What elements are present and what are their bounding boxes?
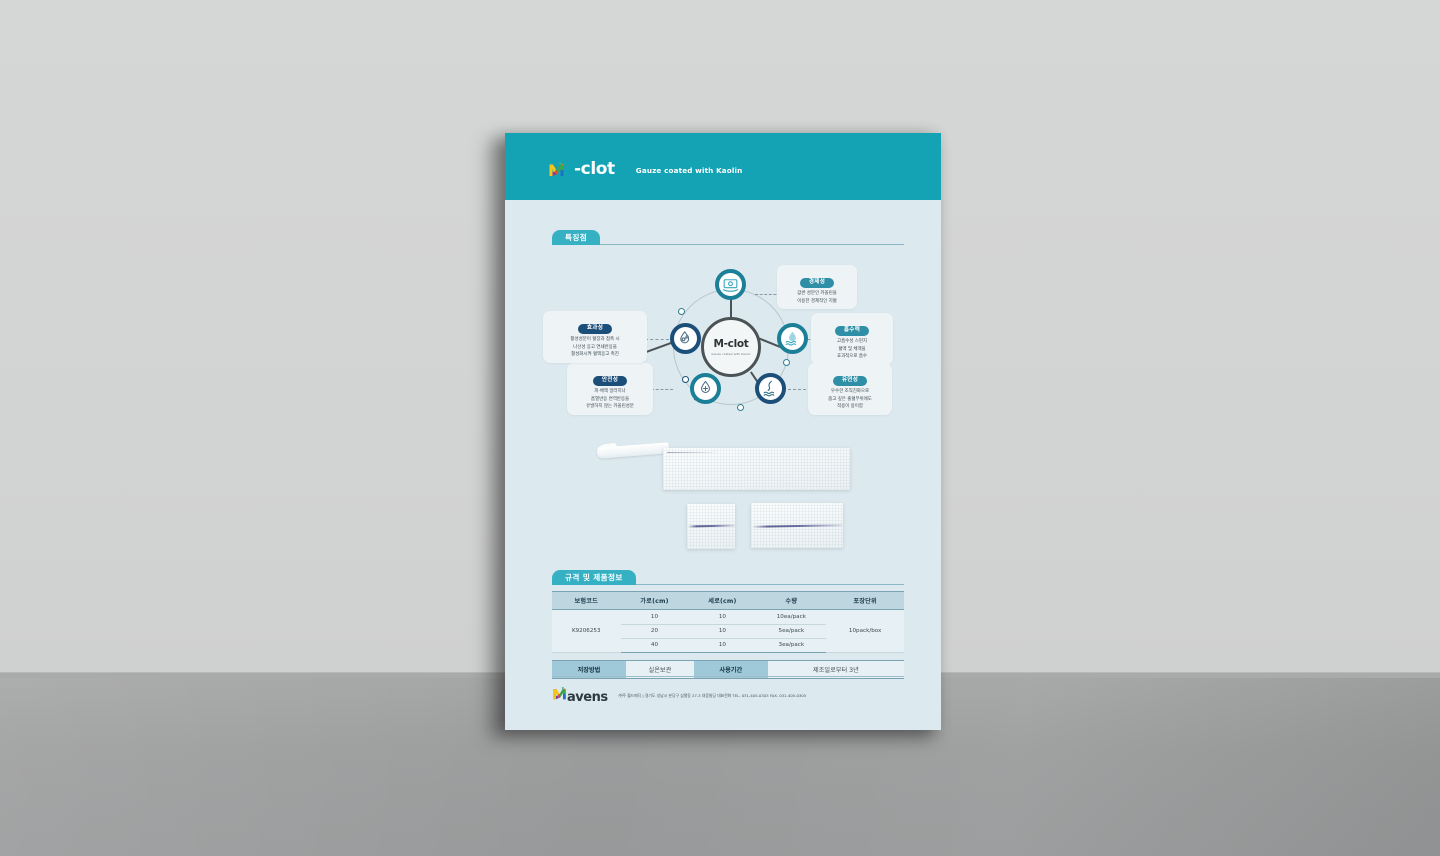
mavens-m-logo-icon <box>548 161 565 178</box>
brand-tagline: Gauze coated with Kaolin <box>636 166 743 175</box>
section-divider <box>636 584 904 585</box>
ring-dot-right <box>783 359 790 366</box>
diagram-node-effectiveness[interactable] <box>670 323 701 354</box>
section-tab-label: 특징점 <box>552 230 600 245</box>
footer-logo-word: avens <box>567 690 608 705</box>
diagram-node-absorbency[interactable] <box>777 323 808 354</box>
cell-width: 10 <box>621 610 689 624</box>
gauze-long-seam <box>667 452 715 453</box>
table-row: K9206253 10 10 10ea/pack 10pack/box <box>552 610 904 624</box>
footer-contact: ㈜주 월드메딕 | 경기도 성남시 분당구 삼평동 27-3 대웅빌딩 대표전화… <box>619 693 807 698</box>
callout-effectiveness: 효과성 활성성분이 혈장과 접촉 시 나선성 응고 연쇄반응을 활성화시켜 혈액… <box>543 311 647 363</box>
diagram-node-safety[interactable] <box>690 373 721 404</box>
cell-quantity: 10ea/pack <box>756 610 826 624</box>
callout-title: 흡수력 <box>835 326 869 336</box>
product-brochure-page: -clot Gauze coated with Kaolin 특징점 <box>505 133 941 730</box>
ring-dot-upper-left <box>678 308 685 315</box>
cell-quantity: 3ea/pack <box>756 638 826 652</box>
callout-title: 경제성 <box>800 278 834 288</box>
specs-table: 보험코드 가로(cm) 세로(cm) 수량 포장단위 K9206253 10 1… <box>552 591 904 653</box>
mavens-m-logo-icon <box>552 686 567 701</box>
product-photos <box>505 439 941 564</box>
footer-divider <box>552 676 904 677</box>
brand-lockup: -clot Gauze coated with Kaolin <box>548 159 742 179</box>
callout-title: 유연성 <box>833 376 867 386</box>
brand-name: -clot <box>574 159 615 179</box>
footer: avens ㈜주 월드메딕 | 경기도 성남시 분당구 삼평동 27-3 대웅빌… <box>552 686 904 705</box>
col-pack-unit: 포장단위 <box>826 592 904 610</box>
callout-body: 피·체액 알러지나 흡열반응 면역반응을 유발하지 않는 카올린성분 <box>572 388 648 410</box>
table-header-row: 보험코드 가로(cm) 세로(cm) 수량 포장단위 <box>552 592 904 610</box>
section-heading-specs: 규격 및 제품정보 <box>552 570 904 585</box>
section-tab-label: 규격 및 제품정보 <box>552 570 636 585</box>
col-quantity: 수량 <box>756 592 826 610</box>
diagram-node-flexibility[interactable] <box>755 373 786 404</box>
callout-body: 고흡수성 스펀지 혈액 및 체액을 효과적으로 흡수 <box>816 338 888 360</box>
gauze-long-pad <box>663 448 850 490</box>
cell-height: 10 <box>688 624 756 638</box>
callout-economy: 경제성 값싼 성분인 카올린을 이용한 경제적인 지혈 <box>777 265 857 309</box>
callout-body: 우수한 조직친화으로 좁고 깊은 출혈부위에도 적용이 용이함 <box>813 388 887 410</box>
features-diagram: M-clot Gauze coated with Kaolin 경제성 값싼 성… <box>505 251 941 441</box>
center-subtitle: Gauze coated with Kaolin <box>711 352 750 356</box>
cell-quantity: 5ea/pack <box>756 624 826 638</box>
cell-pack-unit: 10pack/box <box>826 610 904 653</box>
cell-width: 20 <box>621 624 689 638</box>
specs-table-wrap: 보험코드 가로(cm) 세로(cm) 수량 포장단위 K9206253 10 1… <box>552 591 904 679</box>
footer-logo: avens <box>552 686 608 705</box>
col-width: 가로(cm) <box>621 592 689 610</box>
callout-safety: 안전성 피·체액 알러지나 흡열반응 면역반응을 유발하지 않는 카올린성분 <box>567 363 653 415</box>
callout-title: 효과성 <box>578 324 612 334</box>
diagram-node-economy[interactable] <box>715 269 746 300</box>
scene-backdrop: -clot Gauze coated with Kaolin 특징점 <box>0 0 1440 856</box>
ring-dot-lower-left <box>682 376 689 383</box>
col-height: 세로(cm) <box>688 592 756 610</box>
callout-title: 안전성 <box>593 376 627 386</box>
section-heading-features: 특징점 <box>552 230 904 245</box>
diagram-center: M-clot Gauze coated with Kaolin <box>701 317 761 377</box>
callout-body: 값싼 성분인 카올린을 이용한 경제적인 지혈 <box>782 290 852 305</box>
ring-dot-bottom <box>737 404 744 411</box>
header-band: -clot Gauze coated with Kaolin <box>505 133 941 200</box>
connector-safety <box>651 389 673 390</box>
cell-width: 40 <box>621 638 689 652</box>
cell-insurance-code: K9206253 <box>552 610 621 653</box>
cell-height: 10 <box>688 638 756 652</box>
cell-height: 10 <box>688 610 756 624</box>
callout-body: 활성성분이 혈장과 접촉 시 나선성 응고 연쇄반응을 활성화시켜 혈액응고 촉… <box>548 336 642 358</box>
callout-absorbency: 흡수력 고흡수성 스펀지 혈액 및 체액을 효과적으로 흡수 <box>811 313 893 365</box>
col-insurance-code: 보험코드 <box>552 592 621 610</box>
callout-flexibility: 유연성 우수한 조직친화으로 좁고 깊은 출혈부위에도 적용이 용이함 <box>808 363 892 415</box>
section-divider <box>600 244 904 245</box>
connector-effect <box>645 339 669 340</box>
center-title: M-clot <box>713 338 748 350</box>
